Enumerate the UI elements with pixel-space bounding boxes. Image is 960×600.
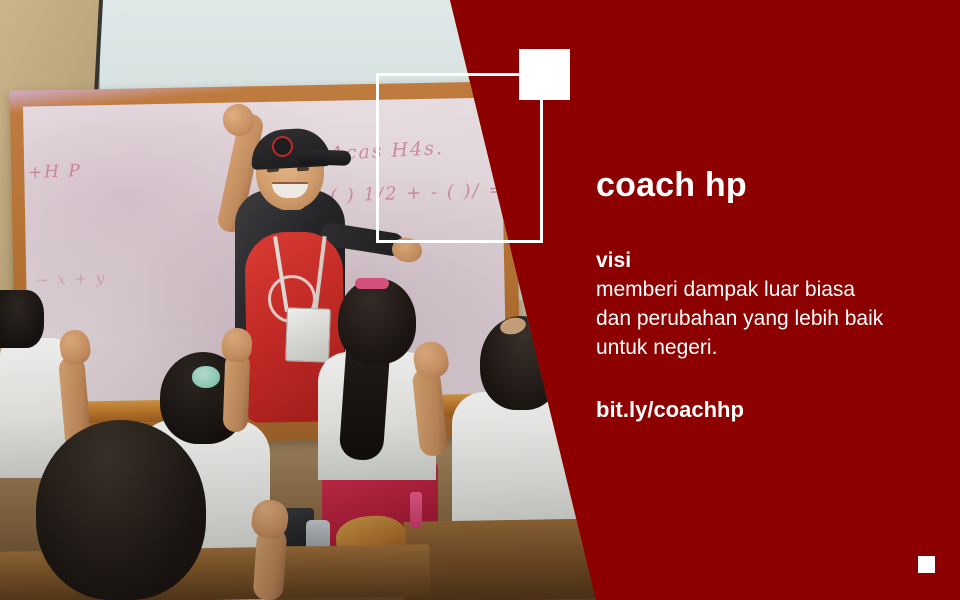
filled-square-icon bbox=[519, 49, 570, 100]
vision-line: dan perubahan yang lebih baik bbox=[596, 304, 936, 333]
page-title: coach hp bbox=[596, 168, 936, 204]
teacher-cap-logo bbox=[272, 136, 293, 157]
student-head bbox=[338, 278, 416, 364]
student-raised-arm bbox=[223, 352, 251, 433]
corner-dot-icon bbox=[918, 556, 935, 573]
short-link[interactable]: bit.ly/coachhp bbox=[596, 398, 936, 422]
vision-line: memberi dampak luar biasa bbox=[596, 275, 936, 304]
student-head bbox=[0, 290, 44, 348]
vision-label: visi bbox=[596, 246, 936, 275]
outline-square-icon bbox=[376, 73, 543, 243]
presentation-slide: +H P Acas H4s. ( ) 1/2 + - ( )/ = 07 ~ x… bbox=[0, 0, 960, 600]
student-head bbox=[36, 420, 206, 600]
vision-section: visi memberi dampak luar biasa dan perub… bbox=[596, 246, 936, 362]
teacher-id-badge bbox=[285, 307, 331, 363]
student-hair-clip bbox=[192, 366, 220, 388]
whiteboard-scribble: ~ x + y bbox=[36, 269, 107, 289]
vision-line: untuk negeri. bbox=[596, 333, 936, 362]
whiteboard-scribble: +H P bbox=[28, 161, 83, 183]
slide-text-block: coach hp visi memberi dampak luar biasa … bbox=[596, 168, 936, 422]
student-hair-tie bbox=[355, 278, 389, 289]
desk-marker bbox=[410, 492, 422, 528]
teacher-cap-brim bbox=[299, 149, 351, 166]
